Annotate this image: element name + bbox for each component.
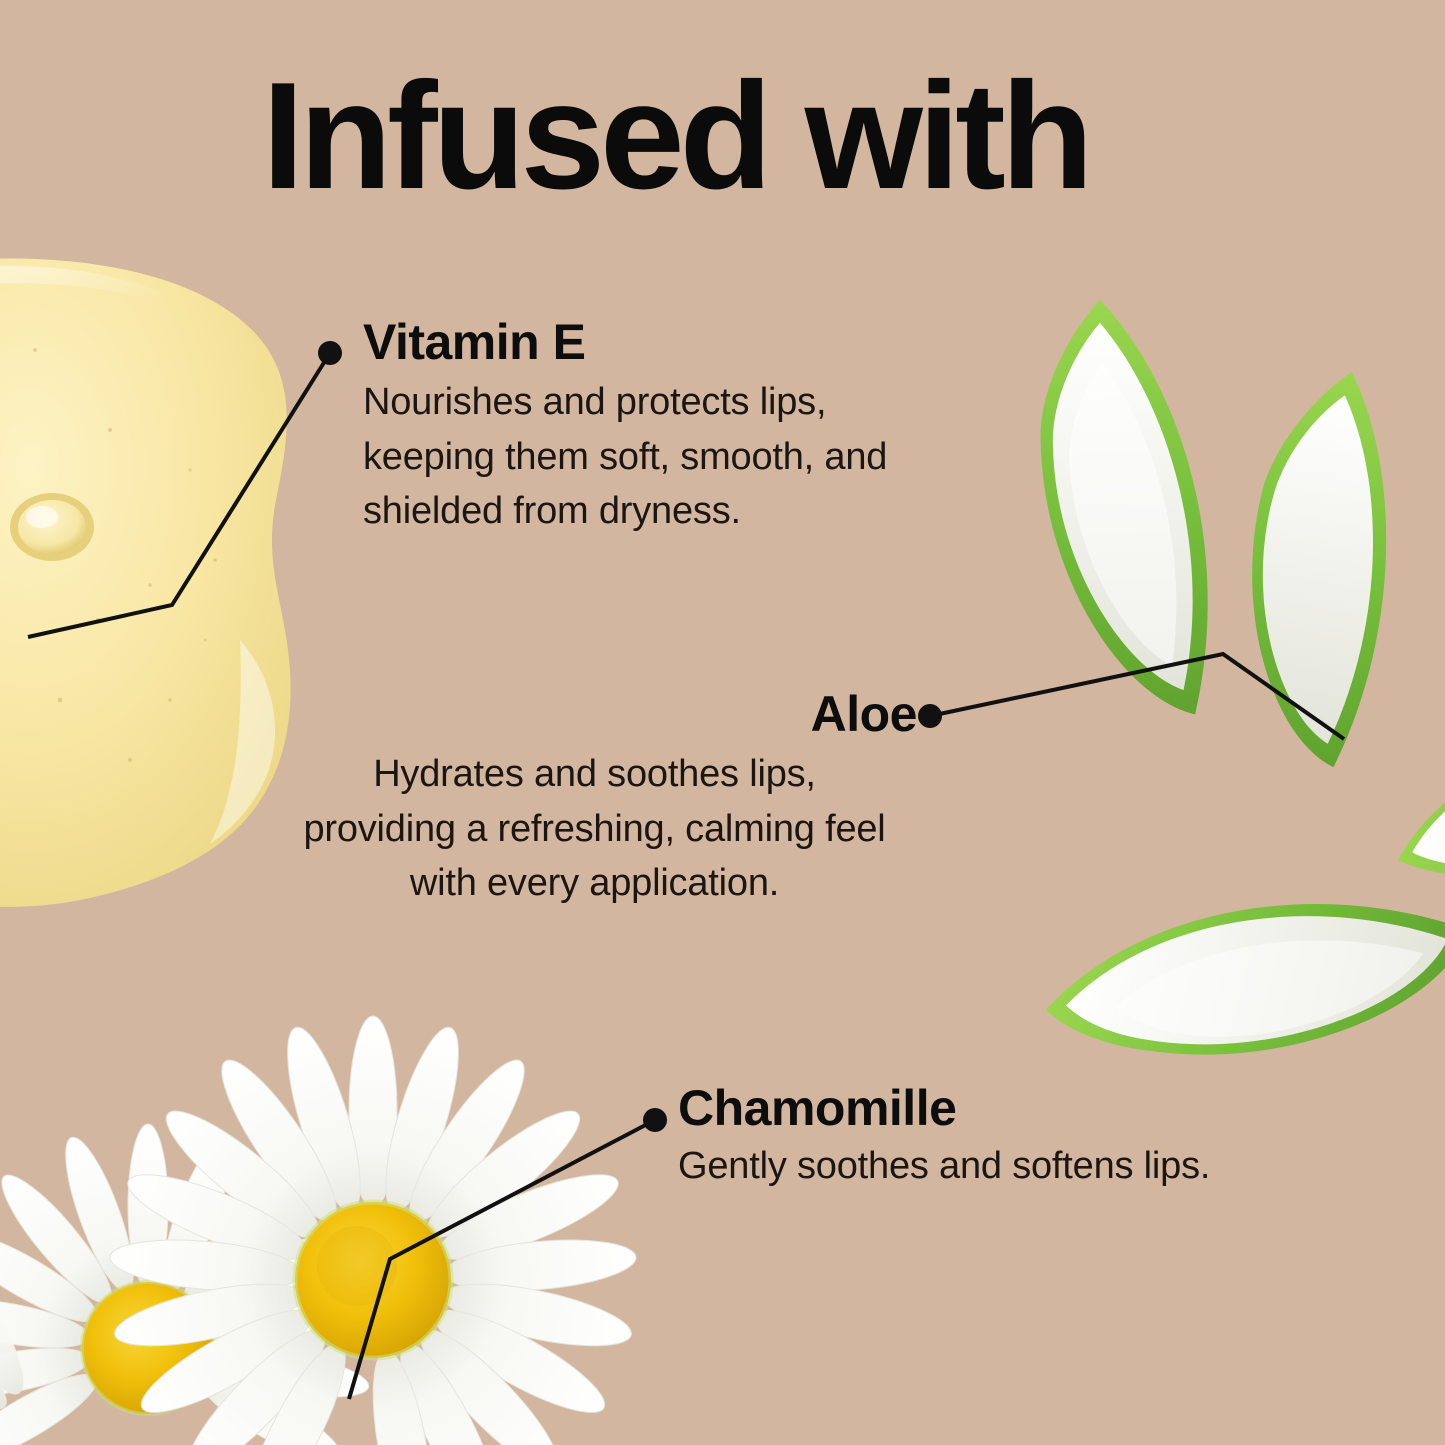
leader-line-chamomille [349,1120,655,1399]
ingredient-name-aloe: Aloe [272,688,917,741]
desc-line: Gently soothes and softens lips. [678,1145,1210,1187]
ingredient-block-chamomille: Chamomille Gently soothes and softens li… [678,1082,1298,1194]
leader-line-aloe [930,654,1344,739]
leader-dot-vitamin-e [318,341,342,365]
ingredient-block-aloe: Aloe Hydrates and soothes lips, providin… [272,688,917,911]
desc-line: shielded from dryness. [363,490,741,532]
desc-line: Hydrates and soothes lips, [373,753,816,795]
desc-line: providing a refreshing, calming feel [303,808,885,850]
desc-line: Nourishes and protects lips, [363,381,826,423]
desc-line: with every application. [410,862,779,904]
ingredient-block-vitamin-e: Vitamin E Nourishes and protects lips, k… [363,316,983,539]
leader-dot-aloe [918,704,942,728]
leader-dot-chamomille [643,1108,667,1132]
page-title: Infused with [262,60,1089,212]
ingredient-desc-chamomille: Gently soothes and softens lips. [678,1139,1298,1194]
ingredient-desc-aloe: Hydrates and soothes lips, providing a r… [272,747,917,911]
ingredient-name-vitamin-e: Vitamin E [363,316,983,369]
infographic-canvas: Infused with Vitamin E Nourishes and pro… [0,0,1445,1445]
desc-line: keeping them soft, smooth, and [363,436,887,478]
ingredient-name-chamomille: Chamomille [678,1082,1298,1135]
leader-line-vitamin-e [28,353,330,637]
ingredient-desc-vitamin-e: Nourishes and protects lips, keeping the… [363,375,983,539]
